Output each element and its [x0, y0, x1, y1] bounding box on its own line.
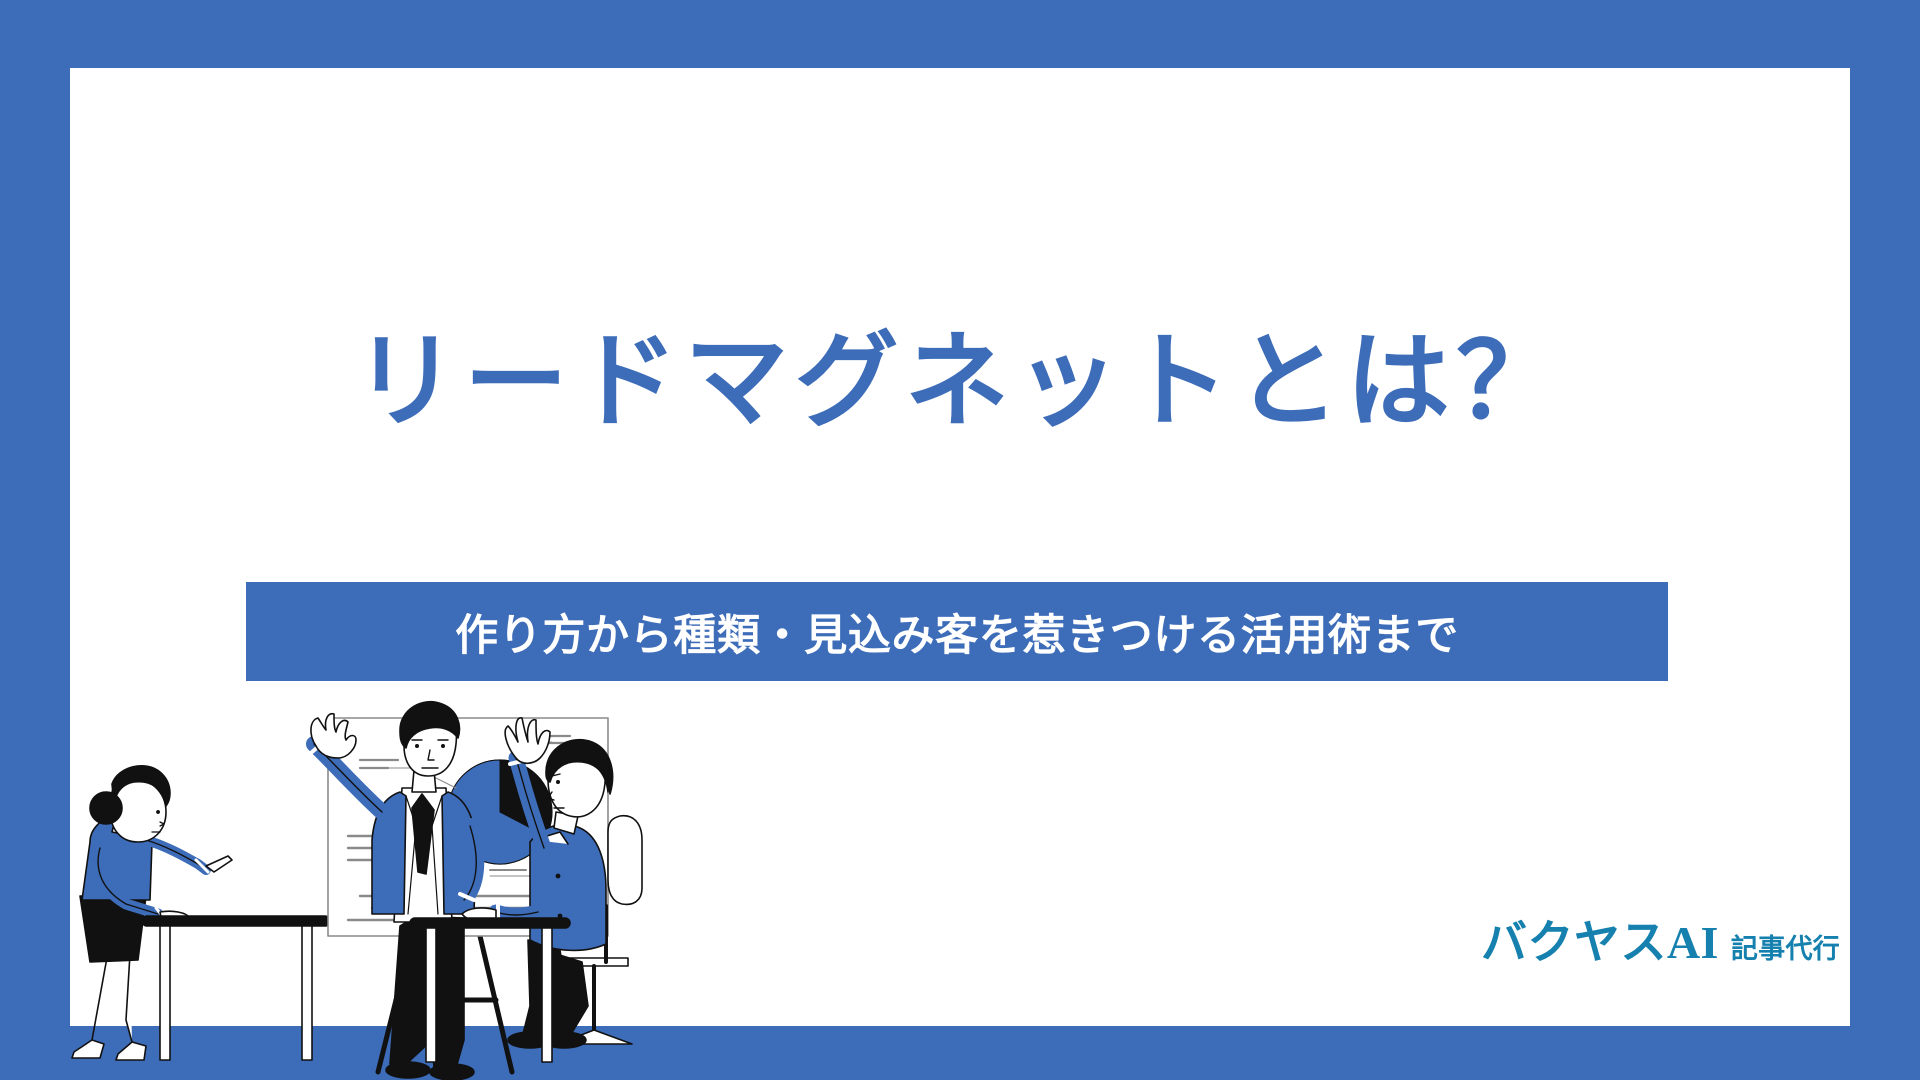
subtitle-band: 作り方から種類・見込み客を惹きつける活用術まで: [246, 582, 1668, 681]
brand-logo-main-text: バクヤスAI: [1481, 920, 1719, 966]
woman-pointing-at-table: [72, 766, 232, 1060]
subtitle-text: 作り方から種類・見込み客を惹きつける活用術まで: [455, 601, 1459, 663]
slide-canvas: リードマグネットとは？ 作り方から種類・見込み客を惹きつける活用術まで バクヤス…: [0, 0, 1920, 1080]
page-title: リードマグネットとは？: [0, 330, 1920, 434]
brand-logo: バクヤスAI 記事代行: [1481, 920, 1840, 966]
brand-logo-sub-text: 記事代行: [1731, 936, 1840, 963]
business-team-presentation-illustration: [60, 700, 800, 1080]
